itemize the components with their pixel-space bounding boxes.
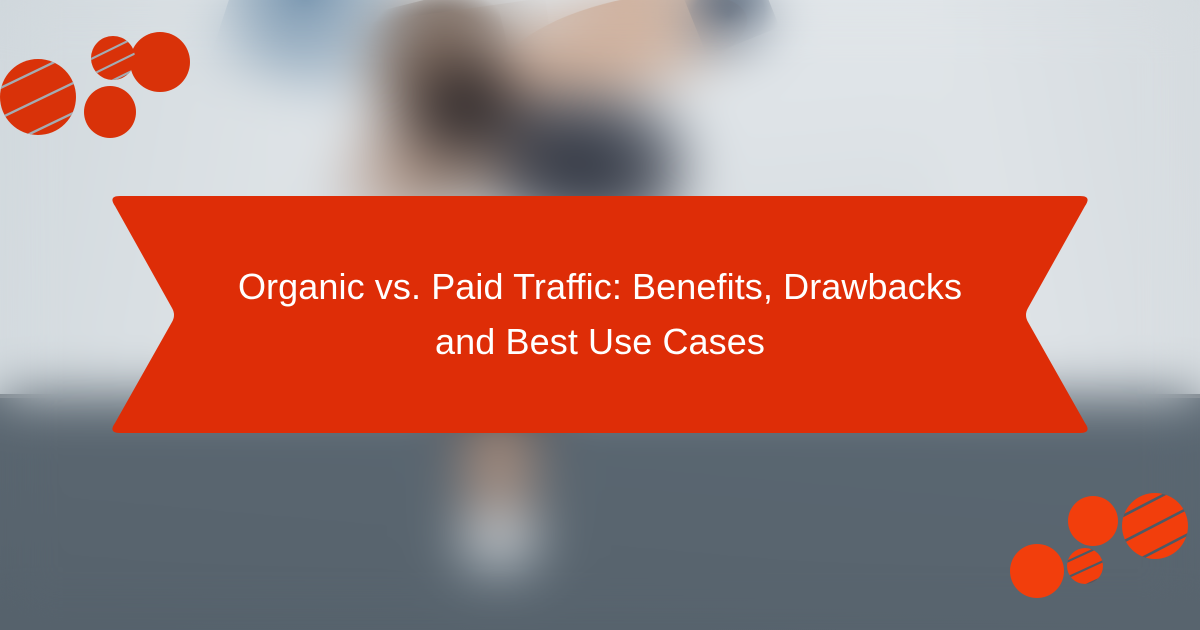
page-title-line-1: Organic vs. Paid Traffic: Benefits, Draw…	[238, 260, 962, 315]
title-ribbon: Organic vs. Paid Traffic: Benefits, Draw…	[108, 196, 1092, 433]
decor-circle-striped	[1115, 476, 1200, 572]
page-title-line-2: and Best Use Cases	[435, 315, 765, 370]
decor-circle	[1010, 544, 1064, 598]
featured-image-card: Organic vs. Paid Traffic: Benefits, Draw…	[0, 0, 1200, 630]
decor-circle-striped	[1062, 542, 1110, 596]
decor-circle	[130, 32, 190, 92]
decor-circle	[84, 86, 136, 138]
title-block: Organic vs. Paid Traffic: Benefits, Draw…	[108, 196, 1092, 433]
decor-circle	[1068, 496, 1118, 546]
circle-cluster-bottom-right	[960, 460, 1200, 630]
decor-circle-striped	[85, 34, 142, 94]
decor-circle-striped	[0, 44, 92, 152]
circle-cluster-top-left	[0, 0, 250, 180]
